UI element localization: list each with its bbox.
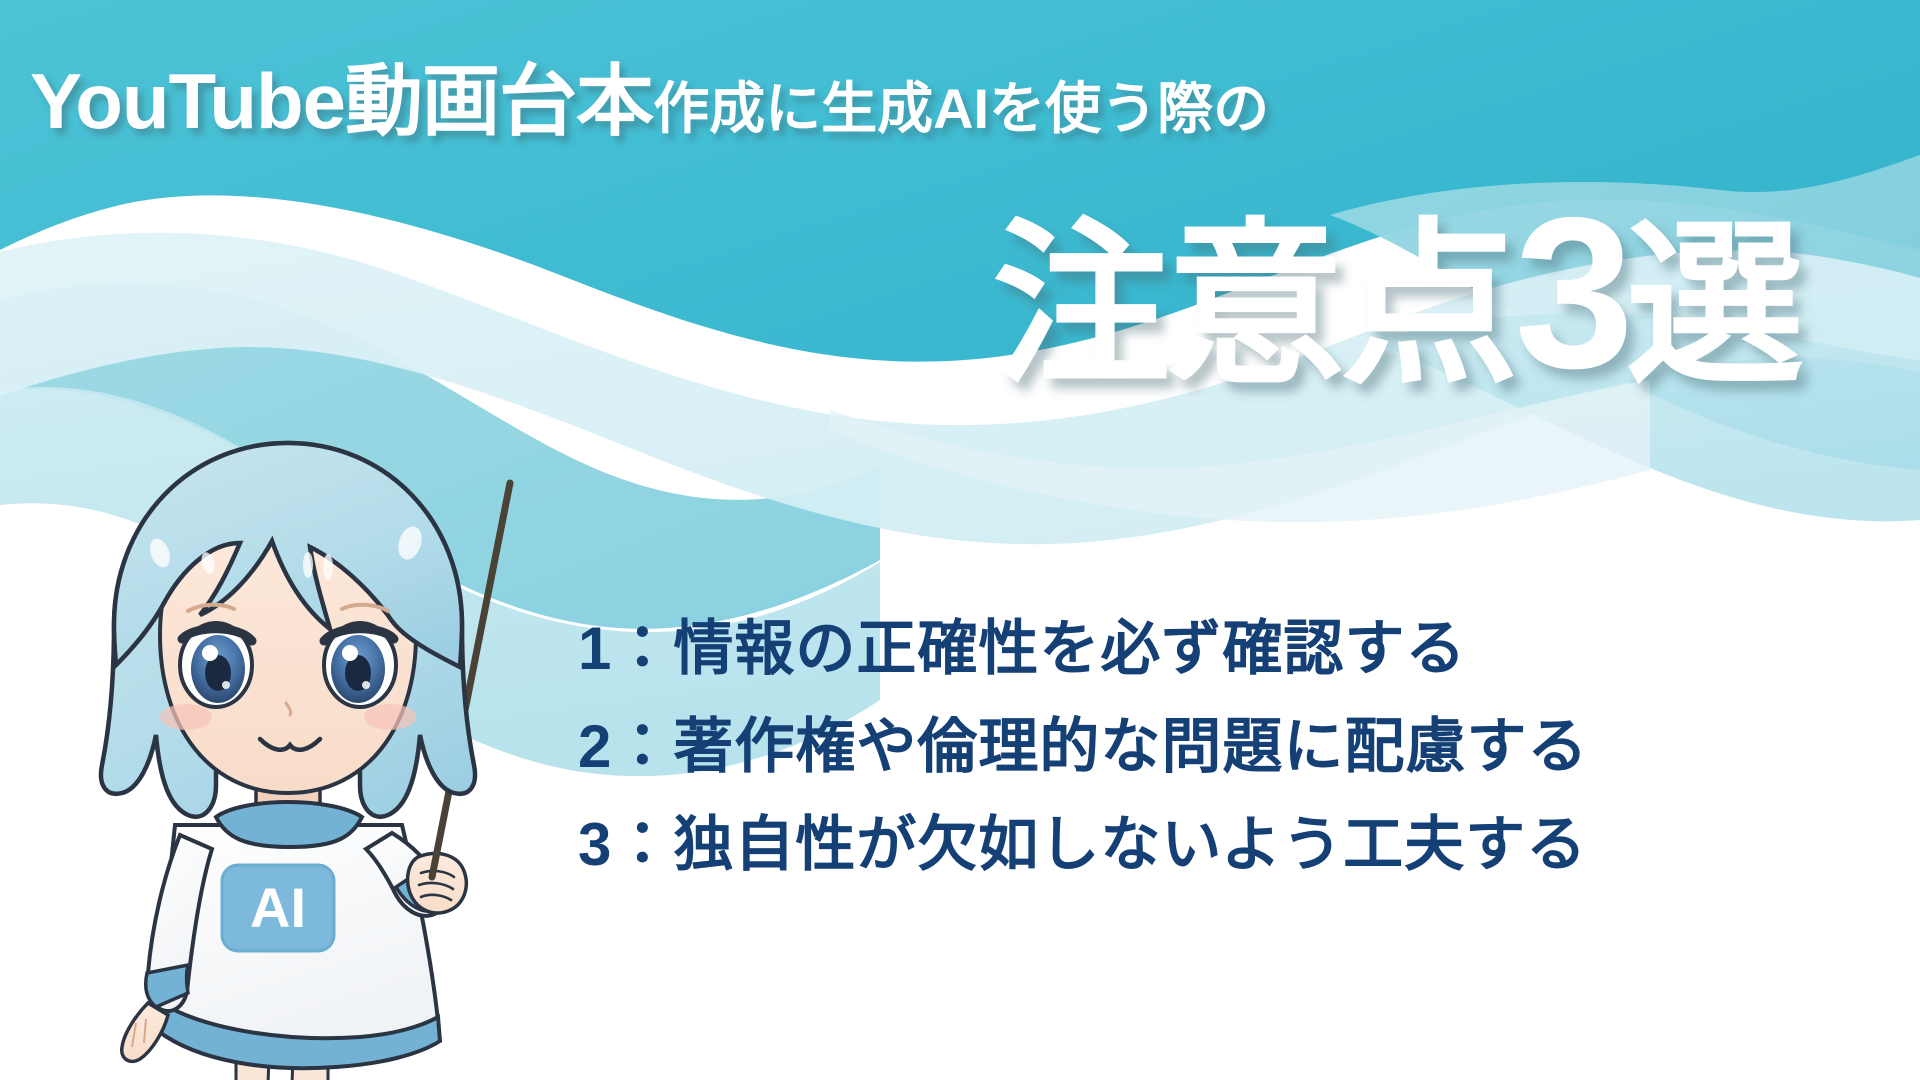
- list-item: 1：情報の正確性を必ず確認する: [578, 600, 1588, 698]
- shirt-ai-badge: AI: [222, 865, 334, 951]
- points-list: 1：情報の正確性を必ず確認する 2：著作権や倫理的な問題に配慮する 3：独自性が…: [578, 600, 1588, 893]
- character-illustration: AI: [40, 425, 580, 1080]
- character-collar: [216, 802, 362, 847]
- shirt-ai-badge-label: AI: [250, 876, 306, 939]
- list-item: 3：独自性が欠如しないよう工夫する: [578, 796, 1588, 894]
- list-item: 2：著作権や倫理的な問題に配慮する: [578, 698, 1588, 796]
